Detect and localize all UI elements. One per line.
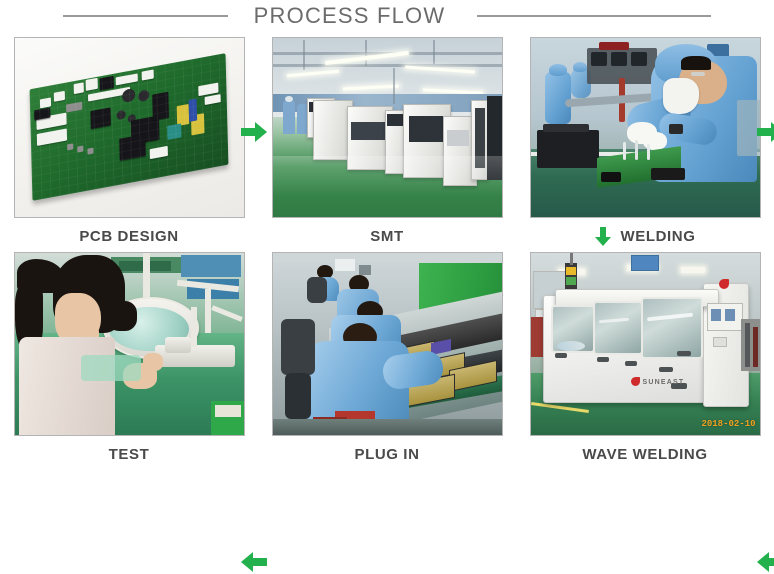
caption-row-welding: WELDING xyxy=(594,225,695,247)
step-label-smt: SMT xyxy=(370,228,403,245)
process-step-smt[interactable]: SMT xyxy=(258,32,516,247)
process-step-plug-in[interactable]: PLUG IN xyxy=(258,247,516,465)
process-step-welding[interactable]: WELDING xyxy=(516,32,774,247)
photo-test xyxy=(14,252,245,436)
arrow-right-icon xyxy=(240,120,268,144)
caption-row-pcb-design: PCB DESIGN xyxy=(79,225,178,247)
page-header: PROCESS FLOW xyxy=(0,0,774,32)
photo-timestamp-overlay: 2018-02-10 xyxy=(701,419,755,429)
header-rule-right xyxy=(477,15,711,17)
photo-wave-welding: SUNEAST 2018-02-10 xyxy=(530,252,761,436)
step-label-test: TEST xyxy=(109,446,150,463)
photo-smt xyxy=(272,37,503,218)
machine-brand-label: SUNEAST xyxy=(643,379,685,386)
photo-plug-in xyxy=(272,252,503,436)
caption-row-test: TEST xyxy=(109,443,150,465)
step-label-plug-in: PLUG IN xyxy=(354,446,419,463)
process-flow-grid: PCB DESIGN xyxy=(0,32,774,465)
photo-welding xyxy=(530,37,761,218)
caption-row-smt: SMT xyxy=(370,225,403,247)
process-step-test[interactable]: TEST xyxy=(0,247,258,465)
caption-row-wave-welding: WAVE WELDING xyxy=(582,443,707,465)
process-step-pcb-design[interactable]: PCB DESIGN xyxy=(0,32,258,247)
arrow-right-icon xyxy=(756,120,774,144)
arrow-left-icon xyxy=(756,550,774,574)
arrow-left-icon xyxy=(240,550,268,574)
step-label-pcb-design: PCB DESIGN xyxy=(79,228,178,245)
arrow-down-icon xyxy=(594,226,612,247)
page-title: PROCESS FLOW xyxy=(254,3,446,29)
photo-pcb-design xyxy=(14,37,245,218)
step-label-welding: WELDING xyxy=(620,228,695,245)
caption-row-plug-in: PLUG IN xyxy=(354,443,419,465)
header-rule-left xyxy=(63,15,228,17)
process-step-wave-welding[interactable]: SUNEAST 2018-02-10 WAVE WELDING xyxy=(516,247,774,465)
step-label-wave-welding: WAVE WELDING xyxy=(582,446,707,463)
